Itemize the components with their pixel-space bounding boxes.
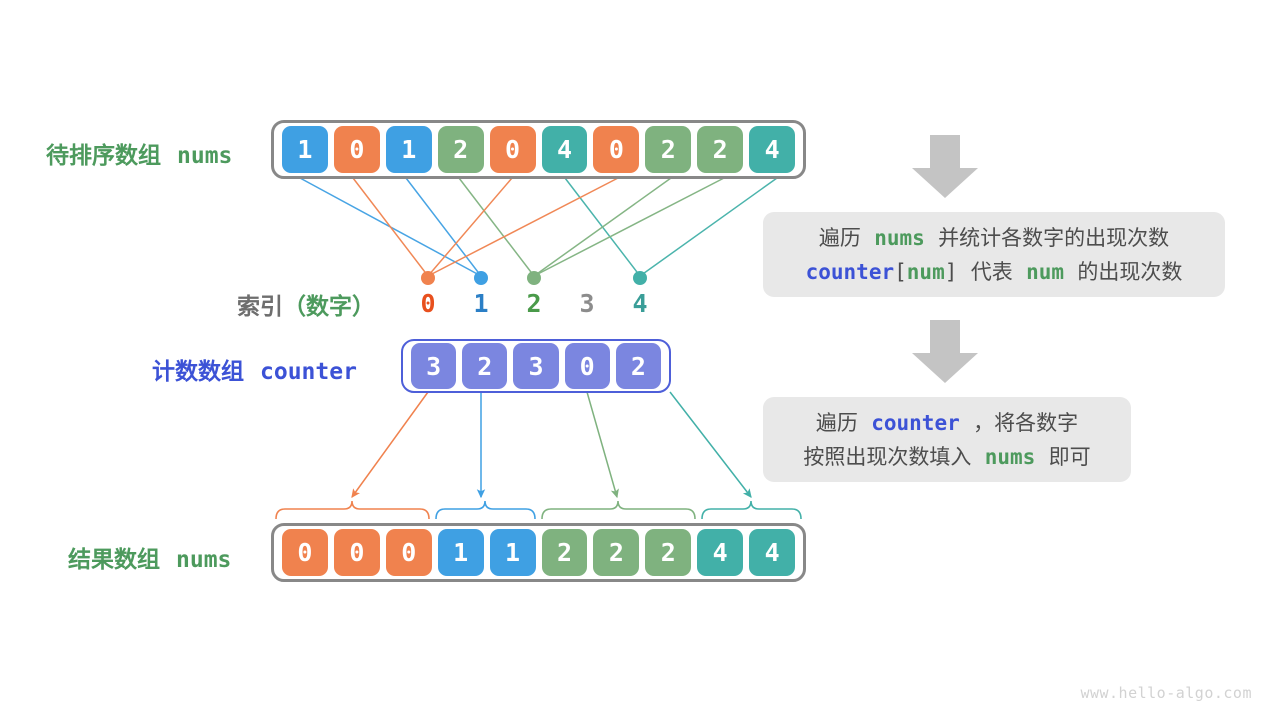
source-array: 1012040224 <box>271 120 806 179</box>
source-array-label: 待排序数组 nums <box>46 136 232 170</box>
source-array-cell: 0 <box>490 126 536 173</box>
index-number: 2 <box>514 289 554 318</box>
counter-array-cell: 3 <box>411 343 456 389</box>
note-line-1: 遍历 counter ，将各数字 <box>816 406 1078 440</box>
result-array-cell: 0 <box>282 529 328 576</box>
source-array-cell: 2 <box>697 126 743 173</box>
counter-array-cell: 0 <box>565 343 610 389</box>
note-box-count-step: 遍历 nums 并统计各数字的出现次数 counter[num] 代表 num … <box>763 212 1225 297</box>
index-number: 3 <box>567 289 607 318</box>
source-array-cell: 4 <box>749 126 795 173</box>
counter-array-label-cn: 计数数组 <box>152 359 244 385</box>
source-array-cell: 2 <box>438 126 484 173</box>
result-array: 0001122244 <box>271 523 806 582</box>
result-array-label-code: nums <box>176 547 231 573</box>
source-array-cell: 0 <box>593 126 639 173</box>
index-number: 1 <box>461 289 501 318</box>
result-array-cell: 0 <box>334 529 380 576</box>
source-array-cell: 4 <box>542 126 588 173</box>
note-box-fill-step: 遍历 counter ，将各数字 按照出现次数填入 nums 即可 <box>763 397 1131 482</box>
result-array-cell: 4 <box>697 529 743 576</box>
result-array-cell: 1 <box>490 529 536 576</box>
result-array-label: 结果数组 nums <box>68 540 231 574</box>
watermark: www.hello-algo.com <box>1080 684 1252 702</box>
diagram-canvas: 待排序数组 nums 1012040224 索引（数字） 01234 计数数组 … <box>0 0 1280 720</box>
index-row-label-cn: 索引 <box>237 294 283 320</box>
note-line-1: 遍历 nums 并统计各数字的出现次数 <box>819 221 1169 255</box>
note-line-2: counter[num] 代表 num 的出现次数 <box>806 255 1183 289</box>
index-dots <box>421 271 647 285</box>
source-array-cell: 2 <box>645 126 691 173</box>
result-array-cell: 1 <box>438 529 484 576</box>
index-row-label: 索引（数字） <box>237 287 375 321</box>
result-array-cell: 2 <box>645 529 691 576</box>
result-array-label-cn: 结果数组 <box>68 547 160 573</box>
counter-array-label: 计数数组 counter <box>152 352 357 386</box>
counter-array: 32302 <box>401 339 671 393</box>
source-array-cell: 1 <box>386 126 432 173</box>
result-array-cell: 4 <box>749 529 795 576</box>
source-array-cell: 0 <box>334 126 380 173</box>
counter-array-label-code: counter <box>260 359 357 385</box>
index-number: 4 <box>620 289 660 318</box>
index-number: 0 <box>408 289 448 318</box>
source-array-cell: 1 <box>282 126 328 173</box>
result-array-cell: 2 <box>542 529 588 576</box>
source-array-label-cn: 待排序数组 <box>46 143 161 169</box>
result-array-cell: 0 <box>386 529 432 576</box>
counter-array-cell: 2 <box>616 343 661 389</box>
index-row-label-paren: （数字） <box>283 294 375 320</box>
source-array-label-code: nums <box>177 143 232 169</box>
note-line-2: 按照出现次数填入 nums 即可 <box>803 440 1090 474</box>
counter-array-cell: 2 <box>462 343 507 389</box>
result-array-cell: 2 <box>593 529 639 576</box>
counter-array-cell: 3 <box>513 343 558 389</box>
